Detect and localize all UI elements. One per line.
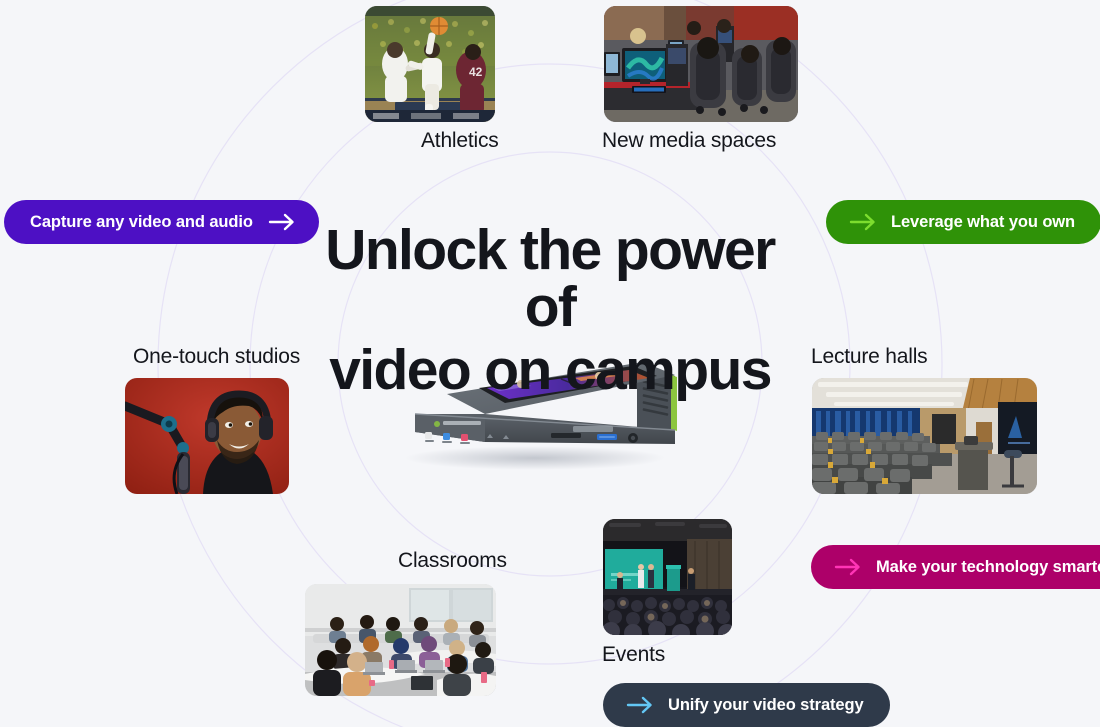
pill-unify-your-video-strategy[interactable]: Unify your video strategy: [603, 683, 890, 727]
arrow-right-icon: [625, 695, 655, 715]
thumbnail-classrooms[interactable]: [305, 584, 496, 696]
pill-leverage-what-you-own[interactable]: Leverage what you own: [826, 200, 1100, 244]
arrow-right-icon: [833, 557, 863, 577]
pill-leverage-label: Leverage what you own: [891, 214, 1075, 231]
arrow-right-icon: [848, 212, 878, 232]
hero-section: 42: [0, 0, 1100, 727]
pill-capture-any-video-and-audio[interactable]: Capture any video and audio: [4, 200, 319, 244]
pill-capture-label: Capture any video and audio: [30, 214, 253, 231]
page-title-line-1: Unlock the power of: [325, 218, 774, 339]
thumbnail-new-media-spaces[interactable]: [604, 6, 798, 122]
page-title-line-2: video on campus: [300, 342, 800, 399]
thumbnail-one-touch-studios[interactable]: [125, 378, 289, 494]
svg-text:42: 42: [469, 65, 483, 79]
arrow-right-icon: [267, 212, 297, 232]
thumbnail-events[interactable]: [603, 519, 732, 635]
node-label-one-touch-studios: One-touch studios: [133, 345, 300, 369]
page-title: Unlock the power of video on campus: [300, 222, 800, 399]
pill-unify-label: Unify your video strategy: [668, 697, 864, 714]
node-label-athletics: Athletics: [421, 129, 499, 153]
pill-smarter-label: Make your technology smarter: [876, 559, 1100, 576]
node-label-new-media-spaces: New media spaces: [602, 129, 776, 153]
node-label-lecture-halls: Lecture halls: [811, 345, 927, 369]
node-label-classrooms: Classrooms: [398, 549, 507, 573]
thumbnail-lecture-halls[interactable]: [812, 378, 1037, 494]
node-label-events: Events: [602, 643, 665, 667]
pill-make-your-technology-smarter[interactable]: Make your technology smarter: [811, 545, 1100, 589]
thumbnail-athletics[interactable]: 42: [365, 6, 495, 122]
